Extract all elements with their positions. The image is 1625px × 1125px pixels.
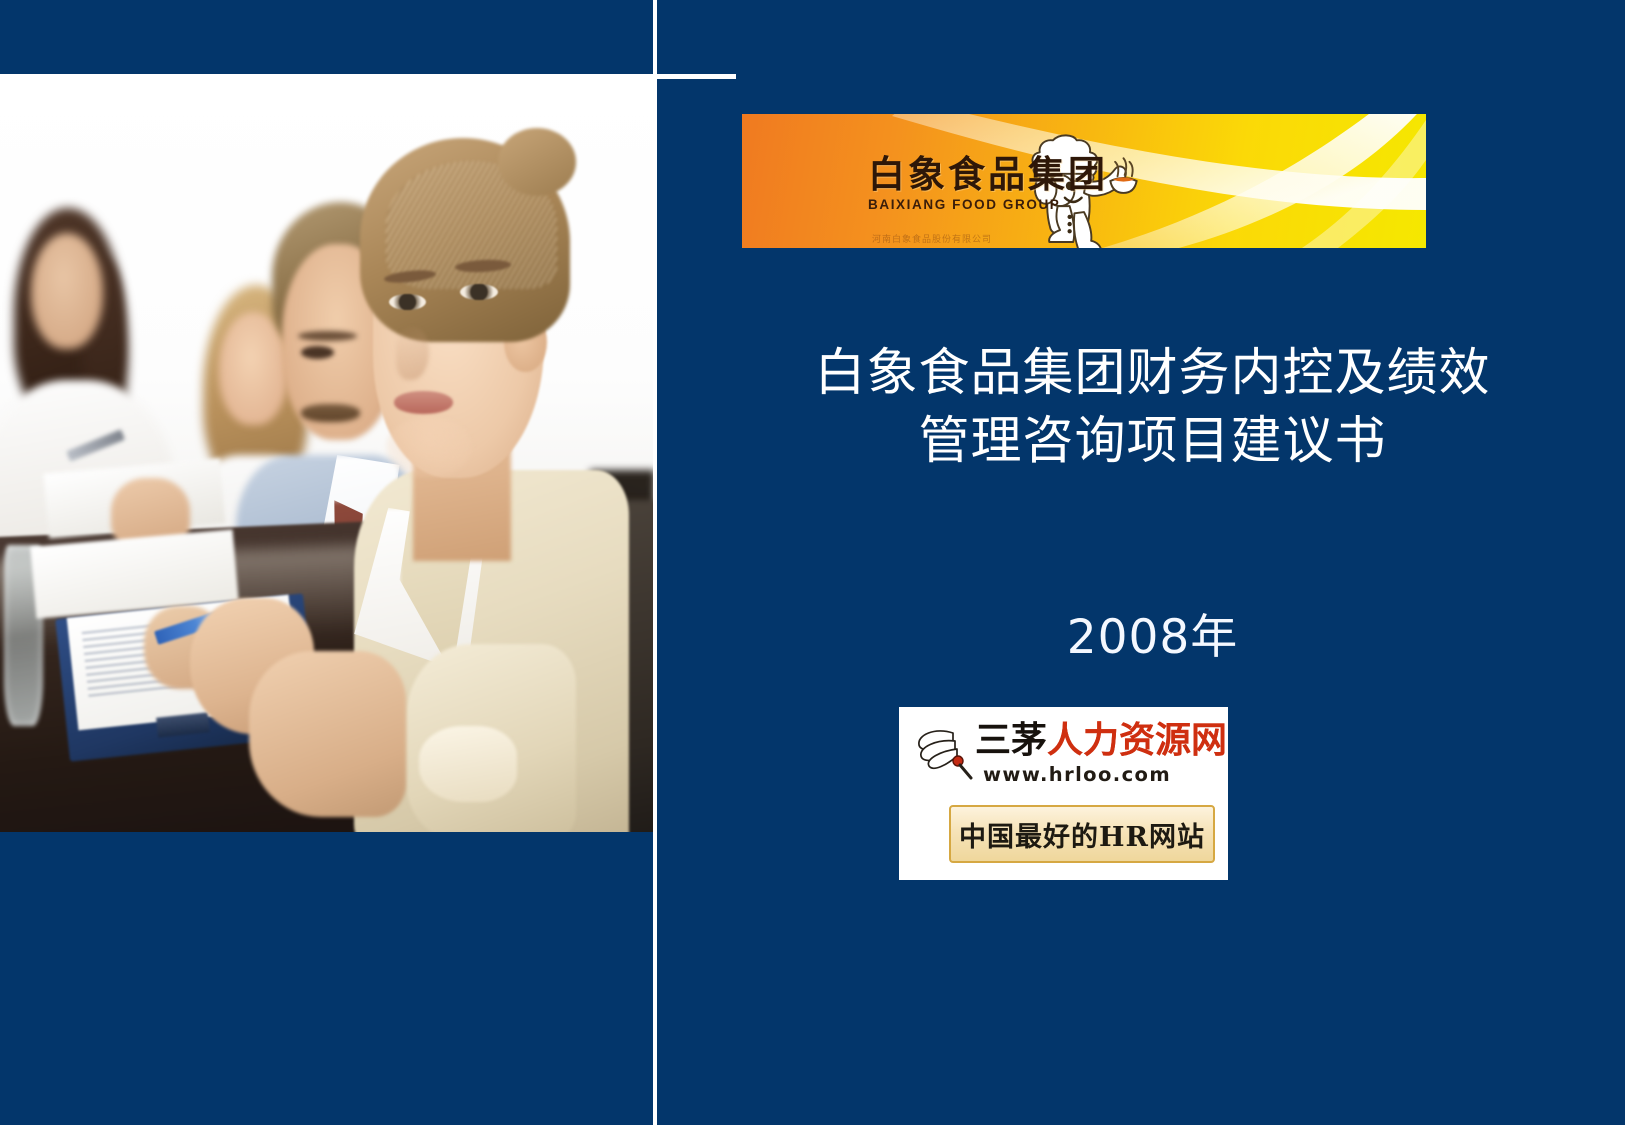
brand-subtitle: 河南白象食品股份有限公司 — [872, 232, 992, 245]
presentation-slide: 白象食品集团 BAIXIANG FOOD GROUP 河南白象食品股份有限公司 … — [0, 0, 1625, 1125]
brand-lockup: 白象食品集团 BAIXIANG FOOD GROUP — [868, 156, 1108, 212]
hrloo-tagline-button[interactable]: 中国最好的HR网站 — [949, 805, 1215, 863]
hrloo-tagline-label: 中国最好的HR网站 — [959, 815, 1205, 854]
brand-name-cn: 白象食品集团 — [868, 156, 1108, 193]
page-title: 白象食品集团财务内控及绩效 管理咨询项目建议书 — [680, 340, 1625, 476]
vertical-divider — [653, 0, 657, 1125]
business-meeting-photo — [0, 78, 655, 832]
hrloo-brand-name: 三茅人力资源网 — [975, 723, 1227, 759]
title-line-1: 白象食品集团财务内控及绩效 — [680, 340, 1625, 408]
hrloo-logo-row: 三茅人力资源网 www.hrloo.com — [913, 723, 1223, 785]
hrloo-url[interactable]: www.hrloo.com — [983, 763, 1171, 786]
year-label: 2008年 — [680, 598, 1625, 667]
baixiang-logo-banner: 白象食品集团 BAIXIANG FOOD GROUP 河南白象食品股份有限公司 — [742, 114, 1426, 248]
hrloo-watermark[interactable]: 三茅人力资源网 www.hrloo.com 中国最好的HR网站 — [899, 707, 1228, 880]
brand-name-en: BAIXIANG FOOD GROUP — [868, 198, 1108, 212]
title-line-2: 管理咨询项目建议书 — [680, 408, 1625, 476]
dragonfly-icon — [913, 725, 975, 781]
photo-illustration — [0, 78, 655, 832]
hrloo-brand-red: 人力资源网 — [1047, 720, 1227, 761]
hrloo-brand-black: 三茅 — [975, 720, 1047, 761]
horizontal-divider — [0, 74, 736, 79]
